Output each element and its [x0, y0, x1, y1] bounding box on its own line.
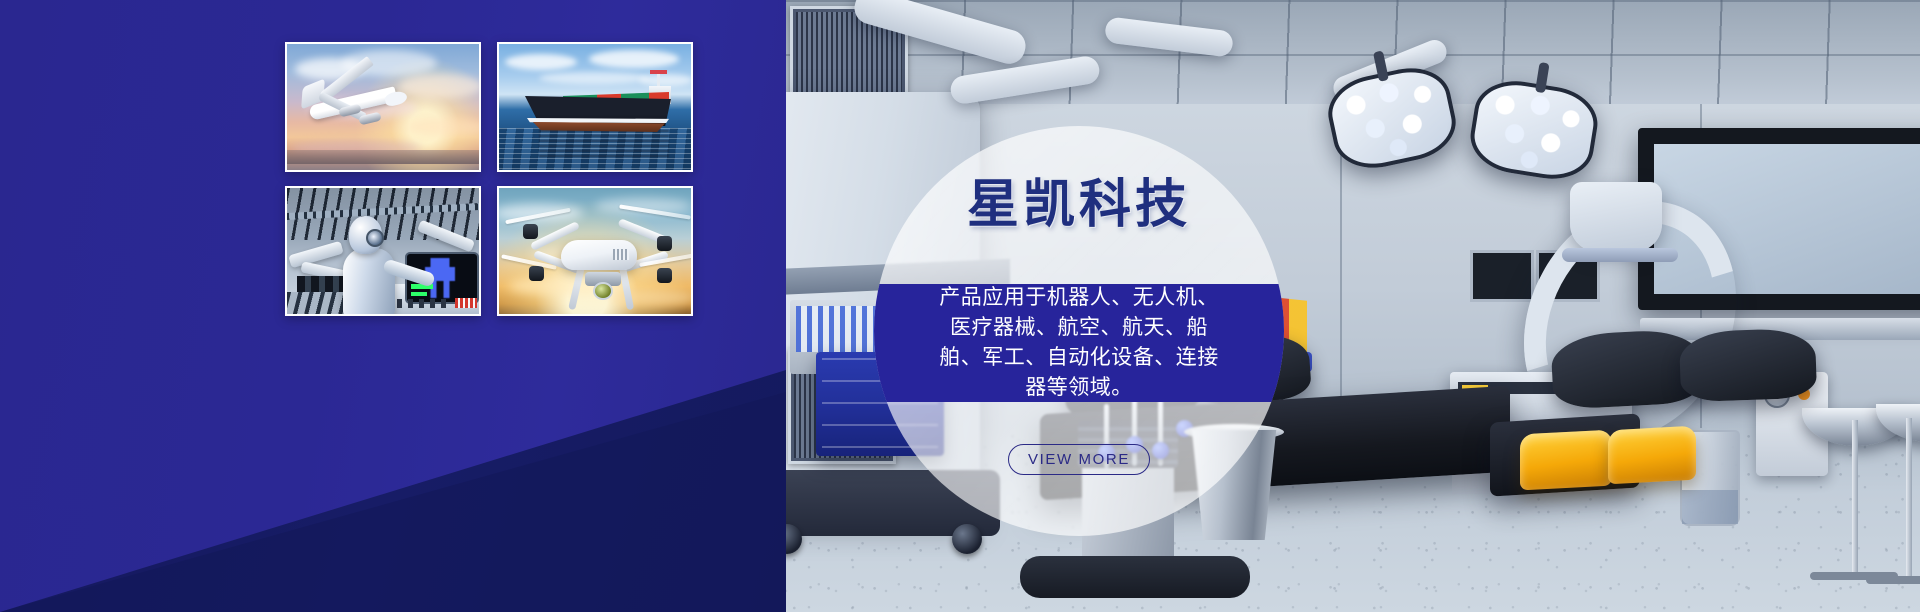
c-arm-plate	[1562, 248, 1678, 262]
description-wrap: 产品应用于机器人、无人机、医疗器械、航空、航天、船舶、军工、自动化设备、连接器等…	[874, 298, 1284, 388]
iv-pole	[1906, 418, 1912, 578]
cta-wrap: VIEW MORE	[778, 444, 1380, 475]
iv-pole-base	[1866, 576, 1920, 584]
hero-circle-overlay: 星凯科技 产品应用于机器人、无人机、医疗器械、航空、航天、船舶、军工、自动化设备…	[874, 126, 1284, 536]
thumb-ship[interactable]	[497, 42, 693, 172]
view-more-button[interactable]: VIEW MORE	[1008, 444, 1150, 475]
iv-pole	[1852, 420, 1858, 576]
thumb-robot[interactable]	[285, 186, 481, 316]
thumb-drone[interactable]	[497, 186, 693, 316]
hero-description: 产品应用于机器人、无人机、医疗器械、航空、航天、船舶、军工、自动化设备、连接器等…	[929, 283, 1229, 404]
yellow-positioning-pad	[1608, 426, 1696, 485]
c-arm-head	[1570, 182, 1662, 252]
page-title: 星凯科技	[778, 162, 1380, 237]
yellow-positioning-pad	[1520, 430, 1612, 491]
hero-content: 星凯科技 产品应用于机器人、无人机、医疗器械、航空、航天、船舶、军工、自动化设备…	[778, 126, 1380, 536]
small-monitor	[1470, 250, 1534, 302]
table-base	[1020, 556, 1250, 598]
industry-image-grid	[285, 42, 785, 314]
hero-banner: 星凯科技 产品应用于机器人、无人机、医疗器械、航空、航天、船舶、军工、自动化设备…	[0, 0, 1920, 612]
table-headrest	[1679, 328, 1817, 403]
thumb-airplane[interactable]	[285, 42, 481, 172]
left-blue-panel	[0, 0, 786, 612]
